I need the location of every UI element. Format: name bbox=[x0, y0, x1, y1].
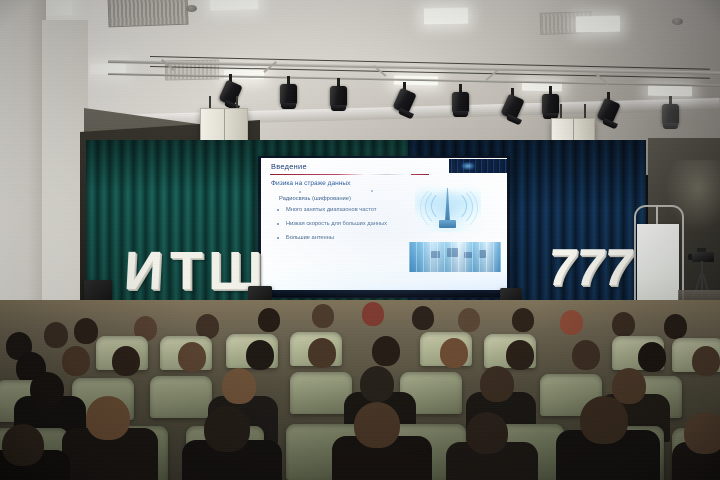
audience-head bbox=[684, 412, 720, 454]
audience-head bbox=[204, 406, 250, 452]
dark-data-strip-image bbox=[449, 159, 507, 173]
ceiling-speaker-grille bbox=[672, 18, 683, 25]
audience-head bbox=[440, 338, 468, 368]
ceiling-panel-light bbox=[648, 86, 692, 97]
audience-head bbox=[74, 318, 98, 344]
antenna-base bbox=[439, 220, 456, 228]
slide-subtitle: Физика на страже данных bbox=[271, 180, 350, 187]
banner-device-icon bbox=[479, 250, 486, 258]
audience-head bbox=[466, 412, 508, 454]
slide-title: Введение bbox=[271, 162, 307, 171]
spotlight-lens bbox=[453, 111, 468, 117]
spotlight-lens bbox=[331, 105, 346, 111]
video-camera-body bbox=[692, 252, 714, 262]
audience-head bbox=[506, 340, 534, 370]
stage-letter-t: Т bbox=[170, 244, 203, 298]
slide-decoration-dot bbox=[371, 190, 373, 192]
audience-head bbox=[692, 346, 720, 376]
auditorium-photo: Введение Физика на страже данных Радиосв… bbox=[0, 0, 720, 480]
slide-title-rule bbox=[270, 174, 366, 175]
audience-head bbox=[258, 308, 280, 332]
technology-banner-image bbox=[409, 242, 501, 272]
auditorium-seat bbox=[150, 376, 212, 418]
audience-head bbox=[612, 312, 635, 337]
audience-head bbox=[44, 322, 68, 348]
video-camera-hood bbox=[697, 248, 706, 252]
audience-head bbox=[664, 314, 687, 339]
ceiling-speaker-grille bbox=[186, 5, 197, 12]
antenna-illustration-image bbox=[415, 182, 481, 232]
audience-head bbox=[246, 340, 274, 370]
slide-title-rule-right bbox=[411, 174, 429, 175]
audience-head bbox=[372, 336, 400, 366]
slide-bullet: Большие антенны bbox=[275, 234, 420, 242]
audience-head bbox=[112, 346, 140, 376]
slide-bullet-list: Много занятых диапазонов частот Низкая с… bbox=[275, 206, 420, 247]
audience-head bbox=[308, 338, 336, 368]
audience-head bbox=[2, 424, 44, 466]
audience-head bbox=[222, 368, 256, 404]
audience-head bbox=[480, 366, 514, 402]
audience-head bbox=[580, 396, 628, 444]
audience-head bbox=[312, 304, 334, 328]
spotlight-lens bbox=[281, 103, 296, 109]
ceiling-panel-light bbox=[210, 0, 259, 11]
audience-area bbox=[0, 300, 720, 480]
spotlight-lens bbox=[663, 123, 678, 129]
projection-screen-bottom-bar bbox=[258, 290, 510, 297]
banner-device-icon bbox=[431, 251, 440, 258]
ceiling-vent bbox=[107, 0, 188, 27]
banner-device-icon bbox=[447, 248, 458, 257]
audience-head bbox=[354, 402, 400, 448]
auditorium-seat bbox=[290, 372, 352, 414]
audience-head bbox=[412, 306, 434, 330]
audience-head bbox=[362, 302, 384, 326]
slide-bullet: Низкая скорость для больших данных bbox=[275, 220, 420, 228]
banner-device-icon bbox=[464, 252, 472, 258]
audience-head bbox=[572, 340, 600, 370]
ceiling-panel-light bbox=[424, 8, 468, 25]
slide-decoration-dot bbox=[299, 191, 301, 193]
ceiling-panel-light bbox=[576, 16, 620, 33]
audience-head bbox=[86, 396, 130, 440]
audience-head bbox=[360, 366, 394, 402]
audience-head bbox=[178, 342, 206, 372]
audience-head bbox=[458, 308, 480, 332]
audience-head bbox=[612, 368, 646, 404]
audience-head bbox=[512, 308, 534, 332]
audience-head bbox=[30, 372, 64, 406]
slide-bullet: Много занятых диапазонов частот bbox=[275, 206, 420, 214]
audience-head bbox=[638, 342, 666, 372]
slide-lead-item: Радиосвязь (шифрование) bbox=[279, 196, 351, 202]
audience-head bbox=[560, 310, 583, 335]
audience-head bbox=[62, 346, 90, 376]
presentation-slide: Введение Физика на страже данных Радиосв… bbox=[261, 158, 507, 290]
slide-title-rule-mid bbox=[369, 174, 405, 175]
stage-letter-i: И bbox=[123, 244, 165, 298]
